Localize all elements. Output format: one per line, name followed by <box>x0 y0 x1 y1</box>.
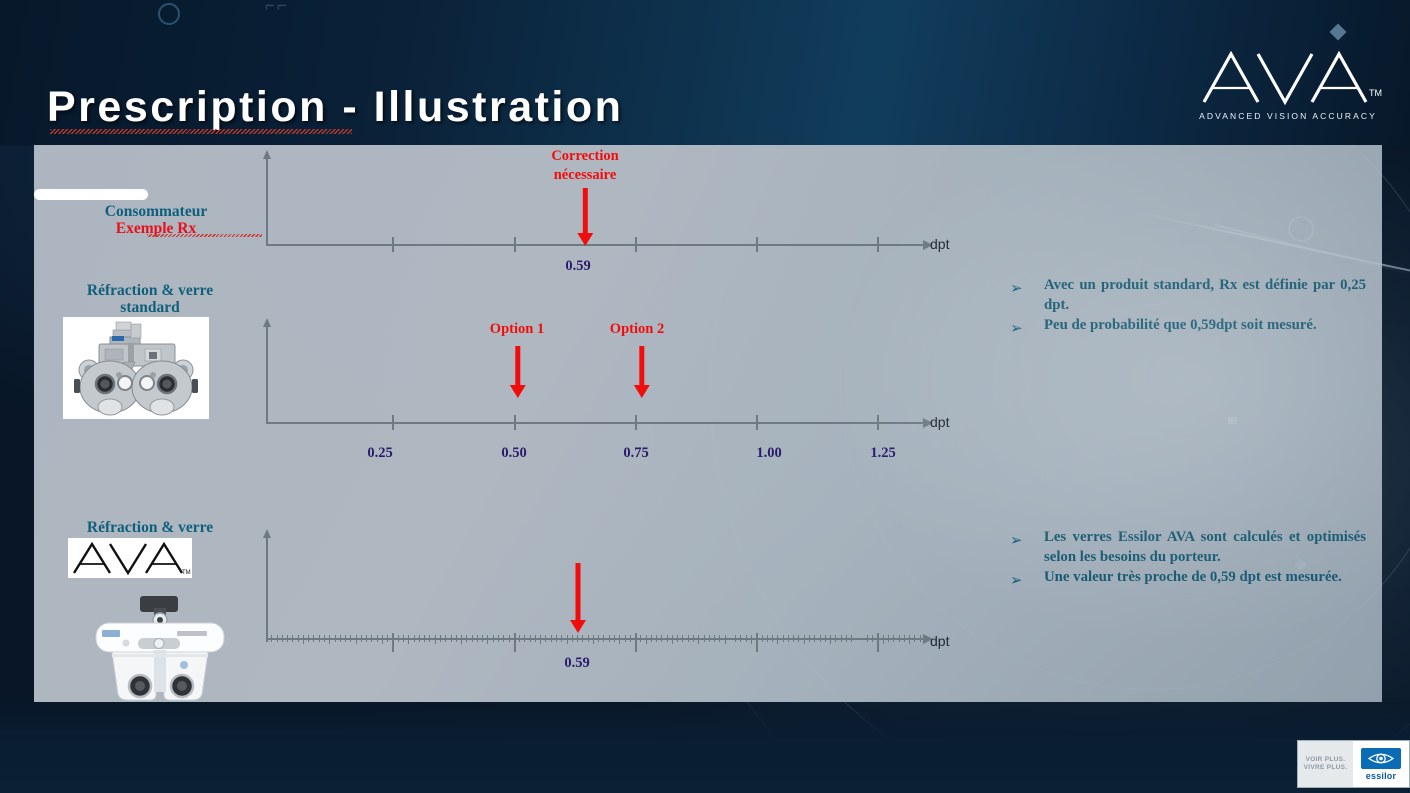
decorative-glyph: ⌐⌐ <box>265 0 289 16</box>
x-axis-minor-tick <box>835 635 836 642</box>
x-axis-minor-tick <box>914 635 915 642</box>
x-axis-tick <box>756 633 758 652</box>
arrowhead-bullet-icon: ➢ <box>1010 319 1023 337</box>
x-axis-minor-tick <box>825 635 826 642</box>
x-axis-minor-tick <box>719 635 720 642</box>
x-axis-tick <box>514 633 516 652</box>
x-axis-minor-tick <box>630 635 631 642</box>
x-axis-tick <box>635 415 637 430</box>
x-axis-tick <box>877 415 879 430</box>
annotation-arrow-head-icon <box>634 385 650 398</box>
bullets-standard: ➢ Avec un produit standard, Rx est défin… <box>994 276 1366 337</box>
x-axis-minor-tick <box>582 635 583 642</box>
x-axis-minor-tick <box>783 635 784 642</box>
x-axis-tick-label: 0.50 <box>501 445 526 462</box>
annotation-option-2: Option 2 <box>610 320 664 339</box>
x-axis-unit-label: dpt <box>930 236 949 252</box>
x-axis-minor-tick <box>572 635 573 642</box>
x-axis-minor-tick <box>319 635 320 642</box>
list-item: ➢ Une valeur très proche de 0,59 dpt est… <box>994 568 1366 588</box>
x-axis-minor-tick <box>282 635 283 642</box>
x-axis-minor-tick <box>456 635 457 642</box>
x-axis-minor-tick <box>751 635 752 644</box>
x-axis-minor-tick <box>656 635 657 642</box>
x-axis-minor-tick <box>709 635 710 642</box>
x-axis-minor-tick <box>598 635 599 642</box>
y-axis-line <box>266 159 268 245</box>
x-axis-minor-tick <box>920 635 921 642</box>
y-axis-arrow-icon <box>263 529 271 538</box>
x-axis-minor-tick <box>577 635 578 642</box>
bullets-ava: ➢ Les verres Essilor AVA sont calculés e… <box>994 528 1366 589</box>
x-axis-tick <box>635 633 637 652</box>
x-axis-minor-tick <box>472 635 473 642</box>
x-axis-minor-tick <box>809 635 810 642</box>
x-axis-minor-tick <box>503 635 504 642</box>
x-axis-minor-tick <box>851 635 852 642</box>
list-item: ➢ Les verres Essilor AVA sont calculés e… <box>994 528 1366 567</box>
x-axis-minor-tick <box>698 635 699 644</box>
bullet-text: Avec un produit standard, Rx est définie… <box>1044 276 1366 315</box>
x-axis-minor-tick <box>872 635 873 642</box>
x-axis-minor-tick <box>498 635 499 642</box>
x-axis-minor-tick <box>551 635 552 642</box>
arrowhead-bullet-icon: ➢ <box>1010 531 1023 549</box>
x-axis-minor-tick <box>509 635 510 642</box>
x-axis-minor-tick <box>762 635 763 642</box>
x-axis-minor-tick <box>487 635 488 644</box>
x-axis-tick <box>392 237 394 252</box>
x-axis-tick <box>756 415 758 430</box>
x-axis-minor-tick <box>556 635 557 642</box>
essilor-mark: essilor <box>1353 741 1409 787</box>
x-axis-minor-tick <box>424 635 425 642</box>
bullet-text: Peu de probabilité que 0,59dpt soit mesu… <box>1044 316 1366 336</box>
x-axis-minor-tick <box>361 635 362 642</box>
annotation-arrow-shaft <box>576 563 581 621</box>
list-item: ➢ Avec un produit standard, Rx est défin… <box>994 276 1366 315</box>
value-label-059: 0.59 <box>564 655 589 672</box>
essilor-logo: VOIR PLUS. VIVRE PLUS. essilor <box>1297 740 1410 788</box>
x-axis-tick <box>756 237 758 252</box>
page-title-text: Prescription - Illustration <box>47 83 623 131</box>
x-axis-minor-tick <box>329 635 330 644</box>
x-axis-minor-tick <box>308 635 309 642</box>
ava-trademark-symbol: TM <box>1369 88 1382 98</box>
x-axis-minor-tick <box>545 635 546 642</box>
page-title: Prescription - Illustration <box>47 83 623 132</box>
annotation-line1: Correction <box>551 147 618 166</box>
x-axis-minor-tick <box>793 635 794 642</box>
phoropter-standard-image <box>63 317 209 419</box>
x-axis-minor-tick <box>561 635 562 642</box>
x-axis-minor-tick <box>704 635 705 642</box>
x-axis-minor-tick <box>519 635 520 642</box>
x-axis-minor-tick <box>350 635 351 642</box>
x-axis-minor-tick <box>682 635 683 642</box>
x-axis-minor-tick <box>609 635 610 642</box>
x-axis-minor-tick <box>313 635 314 642</box>
x-axis-minor-tick <box>767 635 768 642</box>
y-axis-arrow-icon <box>263 318 271 327</box>
x-axis-minor-tick <box>846 635 847 642</box>
annotation-option1-label: Option 1 <box>490 320 544 339</box>
x-axis-minor-tick <box>371 635 372 642</box>
annotation-arrow-shaft <box>515 346 520 386</box>
x-axis-minor-tick <box>798 635 799 642</box>
annotation-line2: nécessaire <box>551 166 618 185</box>
y-axis-line <box>266 538 268 642</box>
x-axis-minor-tick <box>640 635 641 642</box>
x-axis-minor-tick <box>904 635 905 642</box>
x-axis-minor-tick <box>830 635 831 644</box>
x-axis-minor-tick <box>909 635 910 644</box>
annotation-arrow-shaft <box>639 346 644 386</box>
x-axis-minor-tick <box>345 635 346 642</box>
ava-brand-logo: TM ADVANCED VISION ACCURACY <box>1198 48 1378 121</box>
value-label-059: 0.59 <box>565 258 590 275</box>
x-axis-minor-tick <box>408 635 409 644</box>
x-axis-tick <box>635 237 637 252</box>
x-axis-minor-tick <box>651 635 652 642</box>
y-axis-line <box>266 327 268 423</box>
x-axis-unit-label: dpt <box>930 414 949 430</box>
x-axis-minor-tick <box>414 635 415 642</box>
phoropter-standard-illustration <box>63 317 209 419</box>
x-axis-minor-tick <box>740 635 741 642</box>
x-axis-minor-tick <box>725 635 726 644</box>
x-axis-minor-tick <box>841 635 842 642</box>
x-axis-minor-tick <box>667 635 668 642</box>
x-axis-minor-tick <box>387 635 388 642</box>
x-axis-minor-tick <box>335 635 336 642</box>
phoropter-ava-illustration <box>82 594 238 702</box>
x-axis-minor-tick <box>883 635 884 644</box>
x-axis-minor-tick <box>619 635 620 644</box>
x-axis-minor-tick <box>535 635 536 642</box>
x-axis-minor-tick <box>466 635 467 642</box>
decorative-circle-icon <box>158 3 180 25</box>
list-item: ➢ Peu de probabilité que 0,59dpt soit me… <box>994 316 1366 336</box>
x-axis-minor-tick <box>445 635 446 642</box>
annotation-correction-necessaire: Correction nécessaire <box>551 147 618 185</box>
x-axis-tick <box>877 633 879 652</box>
x-axis-minor-tick <box>530 635 531 642</box>
x-axis-minor-tick <box>788 635 789 642</box>
y-axis-arrow-icon <box>263 150 271 159</box>
x-axis-minor-tick <box>403 635 404 642</box>
x-axis-minor-tick <box>356 635 357 644</box>
ava-logo-box: TM <box>68 538 192 578</box>
x-axis-minor-tick <box>287 635 288 642</box>
x-axis-tick-label: 0.75 <box>623 445 648 462</box>
x-axis-minor-tick <box>672 635 673 644</box>
essilor-wordmark: essilor <box>1366 771 1396 781</box>
x-axis-minor-tick <box>440 635 441 642</box>
eye-glyph-icon <box>1368 751 1394 766</box>
annotation-arrow-head-icon <box>510 385 526 398</box>
essilor-tagline-line1: VOIR PLUS. <box>1306 756 1346 763</box>
x-axis-minor-tick <box>540 635 541 644</box>
x-axis-minor-tick <box>324 635 325 642</box>
arrowhead-bullet-icon: ➢ <box>1010 571 1023 589</box>
svg-text:TM: TM <box>182 570 191 576</box>
phoropter-ava-image <box>82 594 238 702</box>
annotation-arrow-head-icon <box>577 233 593 246</box>
x-axis-tick-label: 0.25 <box>367 445 392 462</box>
annotation-option-1: Option 1 <box>490 320 544 339</box>
x-axis-minor-tick <box>451 635 452 642</box>
x-axis-minor-tick <box>820 635 821 642</box>
row-label-ava: Réfraction & verre <box>40 519 260 536</box>
ava-tagline: ADVANCED VISION ACCURACY <box>1198 111 1378 121</box>
x-axis-minor-tick <box>735 635 736 642</box>
row-label-consumer: Consommateur Exemple Rx <box>46 203 266 237</box>
x-axis-minor-tick <box>435 635 436 644</box>
row-label-standard-line2: standard <box>120 299 179 316</box>
x-axis-minor-tick <box>614 635 615 642</box>
x-axis-minor-tick <box>661 635 662 642</box>
essilor-eye-icon <box>1361 748 1401 769</box>
x-axis-unit-label: dpt <box>930 633 949 649</box>
x-axis-minor-tick <box>292 635 293 642</box>
annotation-arrow-shaft <box>583 188 588 234</box>
bullet-text: Les verres Essilor AVA sont calculés et … <box>1044 528 1366 567</box>
annotation-arrow-head-icon <box>570 620 586 633</box>
x-axis-minor-tick <box>714 635 715 642</box>
x-axis-minor-tick <box>804 635 805 644</box>
ava-logo-mark: TM <box>1198 48 1378 106</box>
x-axis-minor-tick <box>377 635 378 642</box>
x-axis-minor-tick <box>277 635 278 642</box>
x-axis-minor-tick <box>899 635 900 642</box>
x-axis-minor-tick <box>625 635 626 642</box>
row-label-ava-line1: Réfraction & verre <box>87 519 213 536</box>
x-axis-minor-tick <box>271 635 272 642</box>
row-label-consumer-line1: Consommateur <box>105 203 207 220</box>
x-axis-minor-tick <box>693 635 694 642</box>
x-axis-tick <box>877 237 879 252</box>
x-axis-minor-tick <box>340 635 341 642</box>
x-axis-minor-tick <box>429 635 430 642</box>
x-axis-minor-tick <box>588 635 589 642</box>
x-axis-minor-tick <box>888 635 889 642</box>
x-axis-minor-tick <box>524 635 525 642</box>
x-axis-tick <box>392 633 394 652</box>
row-label-standard-line1: Réfraction & verre <box>87 282 213 299</box>
x-axis-line <box>266 422 925 424</box>
x-axis-minor-tick <box>419 635 420 642</box>
footer-band <box>0 698 1410 793</box>
row-label-standard: Réfraction & verre standard <box>40 282 260 316</box>
x-axis-minor-tick <box>893 635 894 642</box>
x-axis-minor-tick <box>382 635 383 644</box>
x-axis-minor-tick <box>461 635 462 644</box>
row-label-consumer-line2: Exemple Rx <box>46 220 266 237</box>
x-axis-tick <box>514 415 516 430</box>
x-axis-line <box>266 244 925 246</box>
x-axis-tick-label: 1.00 <box>756 445 781 462</box>
x-axis-tick <box>514 237 516 252</box>
x-axis-minor-tick <box>603 635 604 642</box>
x-axis-minor-tick <box>298 635 299 642</box>
x-axis-minor-tick <box>814 635 815 642</box>
x-axis-tick-label: 1.25 <box>870 445 895 462</box>
x-axis-minor-tick <box>772 635 773 642</box>
ava-logo-icon: TM <box>68 538 192 578</box>
annotation-option2-label: Option 2 <box>610 320 664 339</box>
x-axis-minor-tick <box>593 635 594 644</box>
spellcheck-squiggle <box>50 129 352 134</box>
x-axis-minor-tick <box>867 635 868 642</box>
x-axis-minor-tick <box>477 635 478 642</box>
x-axis-minor-tick <box>746 635 747 642</box>
x-axis-minor-tick <box>646 635 647 644</box>
arrowhead-bullet-icon: ➢ <box>1010 279 1023 297</box>
content-panel: Consommateur Exemple Rx dpt 0.59 Correct… <box>34 145 1382 702</box>
x-axis-tick <box>392 415 394 430</box>
decorative-pill <box>34 189 148 200</box>
essilor-tagline: VOIR PLUS. VIVRE PLUS. <box>1298 741 1353 787</box>
ava-logo-icon <box>1198 48 1378 106</box>
x-axis-line <box>266 638 925 640</box>
x-axis-minor-tick <box>303 635 304 644</box>
x-axis-minor-tick <box>777 635 778 644</box>
essilor-tagline-line2: VIVRE PLUS. <box>1304 764 1348 771</box>
x-axis-minor-tick <box>398 635 399 642</box>
x-axis-minor-tick <box>688 635 689 642</box>
x-axis-minor-tick <box>482 635 483 642</box>
x-axis-minor-tick <box>677 635 678 642</box>
x-axis-minor-tick <box>493 635 494 642</box>
x-axis-minor-tick <box>567 635 568 644</box>
bullet-text: Une valeur très proche de 0,59 dpt est m… <box>1044 568 1366 588</box>
x-axis-minor-tick <box>366 635 367 642</box>
